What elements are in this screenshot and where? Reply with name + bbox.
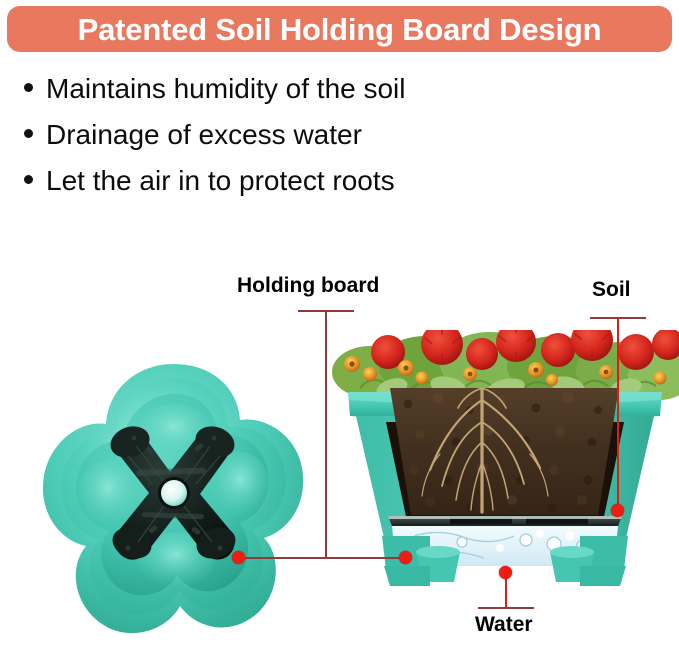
drain-hole — [161, 480, 187, 506]
water-connector-stem — [505, 573, 507, 609]
callout-label-water: Water — [475, 613, 533, 637]
bullet-text: Maintains humidity of the soil — [46, 72, 406, 106]
list-item: Drainage of excess water — [24, 118, 544, 164]
bullet-dot-icon — [24, 129, 33, 138]
bullet-dot-icon — [24, 83, 33, 92]
callout-label-holding-board: Holding board — [237, 274, 379, 298]
holding-board-marker-left — [232, 551, 245, 564]
header-banner: Patented Soil Holding Board Design — [7, 6, 672, 52]
feature-bullet-list: Maintains humidity of the soil Drainage … — [24, 72, 544, 210]
planter-top-view — [24, 360, 324, 644]
holding-board-plate — [388, 516, 622, 526]
bullet-text: Let the air in to protect roots — [46, 164, 395, 198]
soil-marker — [611, 504, 624, 517]
soil-layer — [380, 382, 630, 522]
bullet-text: Drainage of excess water — [46, 118, 362, 152]
list-item: Maintains humidity of the soil — [24, 72, 544, 118]
water-connector-tbar — [478, 607, 534, 609]
page-title: Patented Soil Holding Board Design — [78, 14, 602, 45]
list-item: Let the air in to protect roots — [24, 164, 544, 210]
callout-label-soil: Soil — [592, 278, 631, 302]
holding-board-connector-rule — [238, 557, 410, 559]
bullet-dot-icon — [24, 175, 33, 184]
holding-board-marker-right — [399, 551, 412, 564]
soil-connector-stem — [617, 317, 619, 511]
holding-board-connector-stem — [325, 310, 327, 558]
